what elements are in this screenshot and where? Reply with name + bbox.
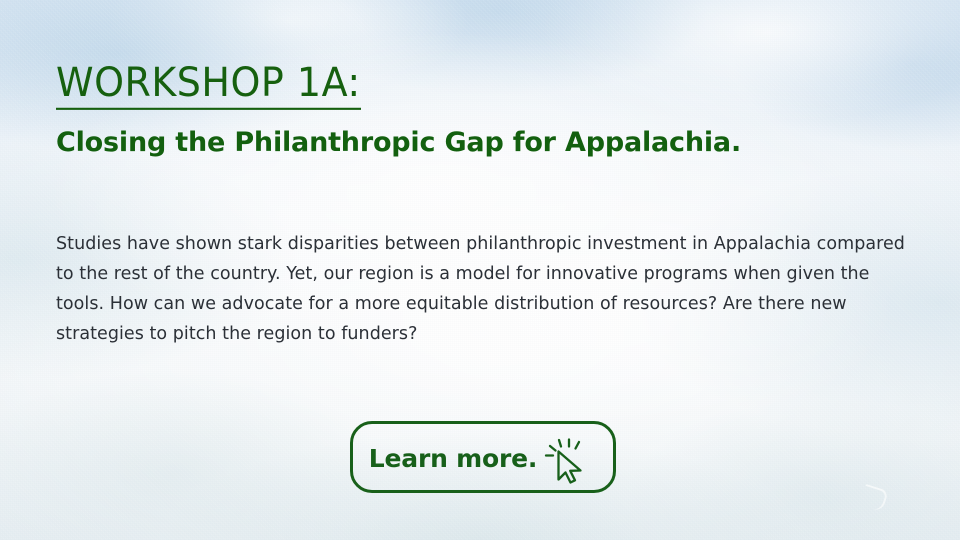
- slide-content: WORKSHOP 1A: Closing the Philanthropic G…: [0, 0, 960, 540]
- learn-more-button[interactable]: Learn more.: [350, 421, 616, 493]
- workshop-description: Studies have shown stark disparities bet…: [56, 229, 916, 349]
- learn-more-label: Learn more.: [369, 446, 537, 471]
- mouse-cursor-click-icon: [541, 432, 595, 486]
- workshop-subtitle: Closing the Philanthropic Gap for Appala…: [56, 126, 741, 160]
- workshop-eyebrow-title: WORKSHOP 1A:: [56, 59, 361, 110]
- workshop-slide: WORKSHOP 1A: Closing the Philanthropic G…: [0, 0, 960, 540]
